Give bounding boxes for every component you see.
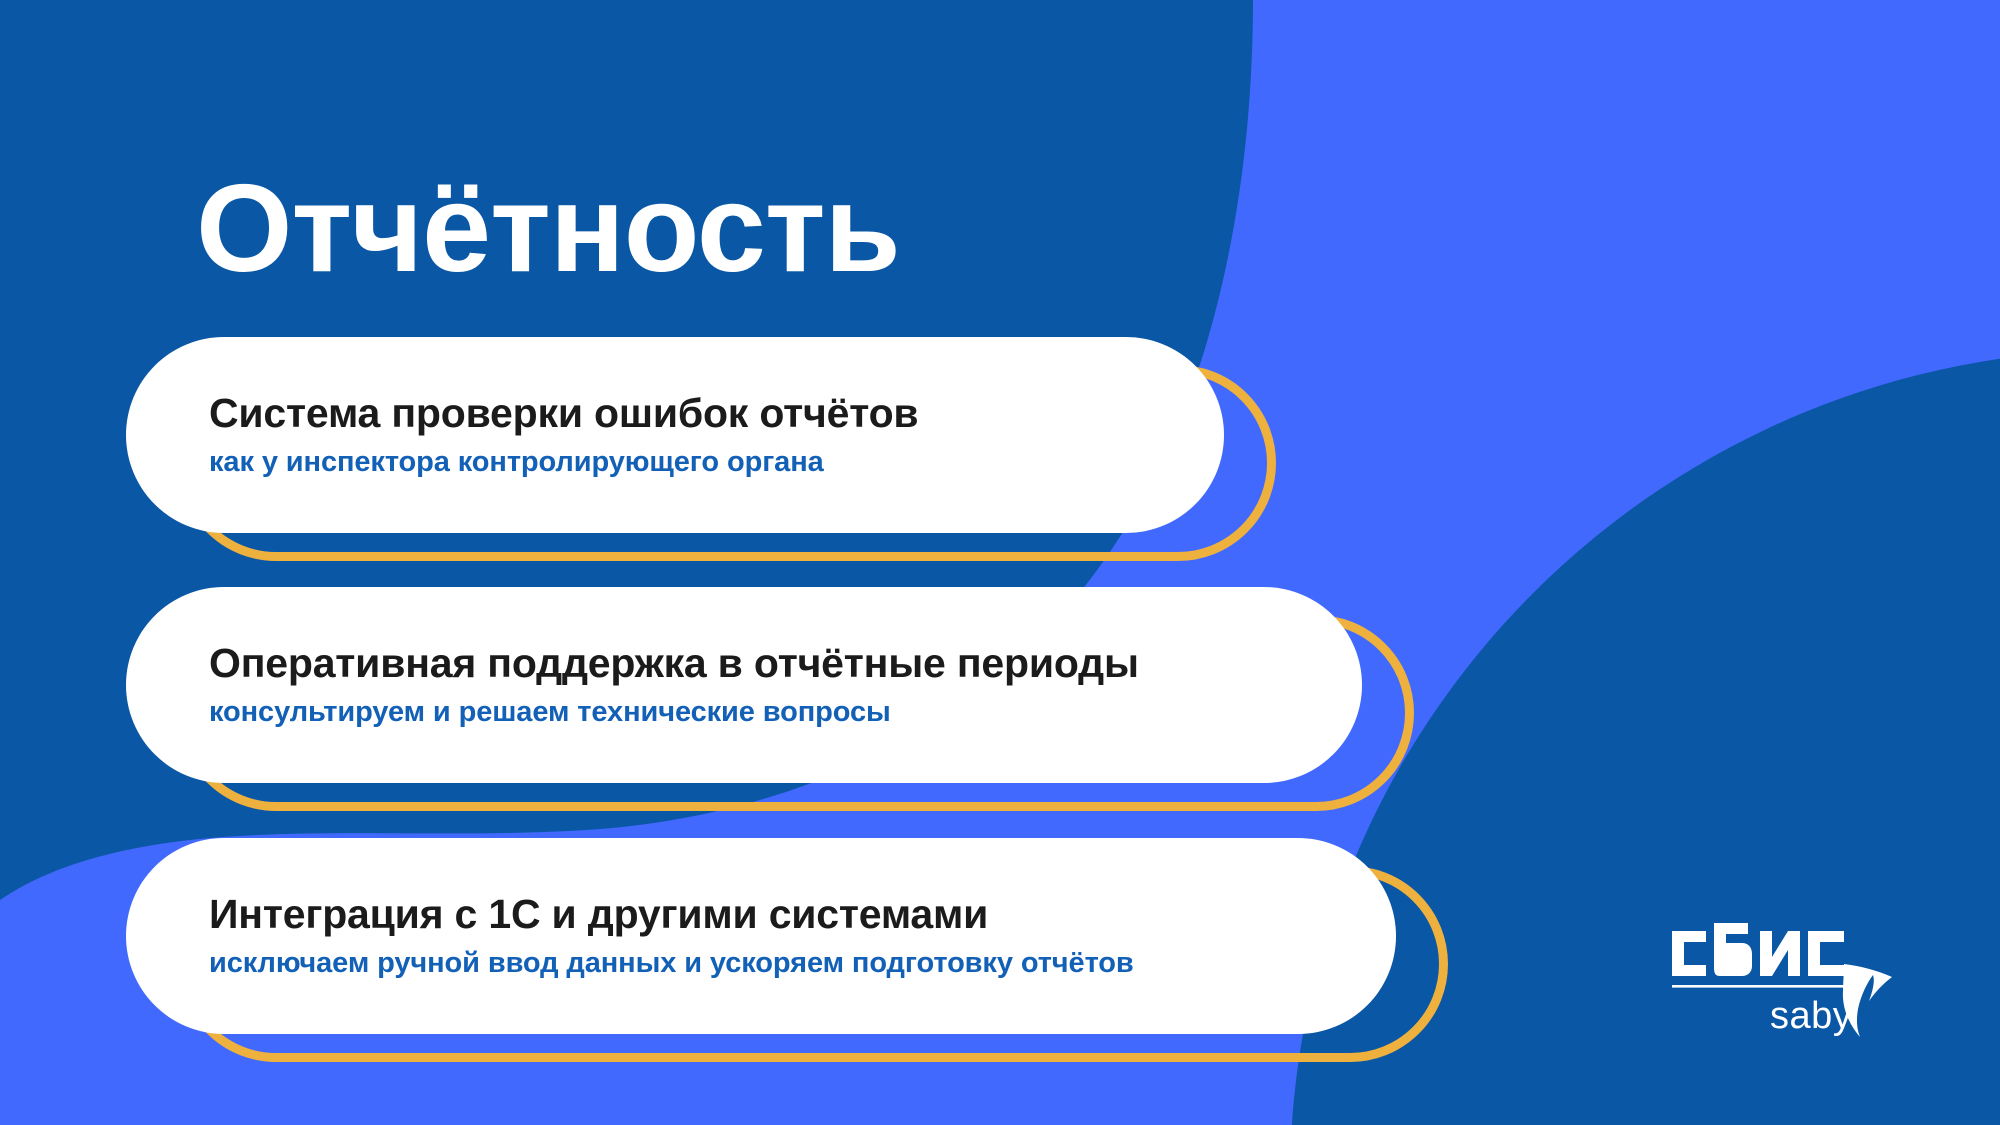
card-subtitle: как у инспектора контролирующего органа xyxy=(209,446,1224,479)
card-subtitle: исключаем ручной ввод данных и ускоряем … xyxy=(209,947,1396,980)
card-body: Система проверки ошибок отчётов как у ин… xyxy=(126,337,1224,533)
logo-divider xyxy=(1672,985,1858,988)
slide-canvas: Отчётность Система проверки ошибок отчёт… xyxy=(0,0,2000,1125)
feature-card[interactable]: Интеграция с 1С и другими системами искл… xyxy=(126,838,1396,1034)
logo-latin-text: saby xyxy=(1770,995,1852,1037)
sbis-wordmark-icon xyxy=(1672,923,1844,976)
card-subtitle: консультируем и решаем технические вопро… xyxy=(209,696,1362,729)
saby-logo[interactable]: saby xyxy=(1662,909,1914,1041)
card-body: Интеграция с 1С и другими системами искл… xyxy=(126,838,1396,1034)
saby-logo-svg: saby xyxy=(1662,909,1914,1041)
card-title: Система проверки ошибок отчётов xyxy=(209,391,1224,437)
card-title: Оперативная поддержка в отчётные периоды xyxy=(209,641,1362,687)
feature-card[interactable]: Система проверки ошибок отчётов как у ин… xyxy=(126,337,1224,533)
card-body: Оперативная поддержка в отчётные периоды… xyxy=(126,587,1362,783)
card-title: Интеграция с 1С и другими системами xyxy=(209,892,1396,938)
feature-card[interactable]: Оперативная поддержка в отчётные периоды… xyxy=(126,587,1362,783)
page-title: Отчётность xyxy=(196,167,900,291)
